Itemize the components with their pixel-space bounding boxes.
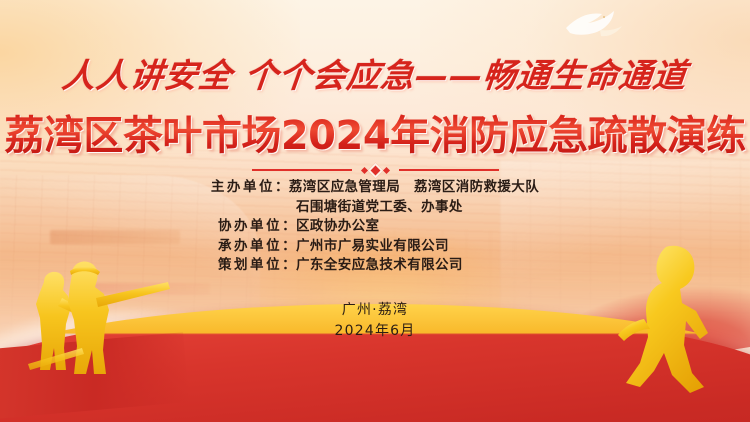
organizer-value: 广东全安应急技术有限公司 (296, 256, 532, 276)
organizer-row: 主办单位：石围塘街道党工委、办事处 (0, 198, 750, 218)
divider-line-right (399, 169, 499, 171)
venue-date: 2024年6月 (0, 321, 750, 342)
organizer-value: 区政协办公室 (296, 217, 532, 237)
organizer-row: 主办单位：荔湾区应急管理局 荔湾区消防救援大队 (0, 178, 750, 198)
poster-content: 人人讲安全 个个会应急——畅通生命通道 荔湾区茶叶市场2024年消防应急疏散演练… (0, 0, 750, 422)
organizer-row: 策划单位：广东全安应急技术有限公司 (0, 256, 750, 276)
venue-block: 广州·荔湾 2024年6月 (0, 300, 750, 342)
organizer-label: 策划单位： (218, 256, 296, 276)
organizer-label: 承办单位： (218, 237, 296, 257)
organizer-value: 广州市广易实业有限公司 (296, 237, 532, 257)
organizer-value: 石围塘街道党工委、办事处 (296, 198, 532, 218)
divider-ornament (0, 163, 750, 177)
poster-subtitle: 人人讲安全 个个会应急——畅通生命通道 (0, 49, 750, 95)
organizer-block: 主办单位：荔湾区应急管理局 荔湾区消防救援大队 主办单位：石围塘街道党工委、办事… (0, 178, 750, 276)
poster-main-title: 荔湾区茶叶市场2024年消防应急疏散演练 (0, 103, 750, 155)
diamond-large-center (367, 162, 383, 178)
diamond-small-right (382, 166, 389, 173)
organizer-label: 主办单位： (211, 178, 289, 198)
organizer-value: 荔湾区应急管理局 荔湾区消防救援大队 (289, 178, 539, 198)
organizer-row: 协办单位：区政协办公室 (0, 217, 750, 237)
divider-line-left (252, 169, 352, 171)
organizer-row: 承办单位：广州市广易实业有限公司 (0, 237, 750, 257)
diamond-ornament-icon (362, 165, 389, 176)
organizer-label: 协办单位： (218, 217, 296, 237)
venue-city: 广州·荔湾 (0, 300, 750, 321)
fire-drill-poster: 人人讲安全 个个会应急——畅通生命通道 荔湾区茶叶市场2024年消防应急疏散演练… (0, 0, 750, 422)
